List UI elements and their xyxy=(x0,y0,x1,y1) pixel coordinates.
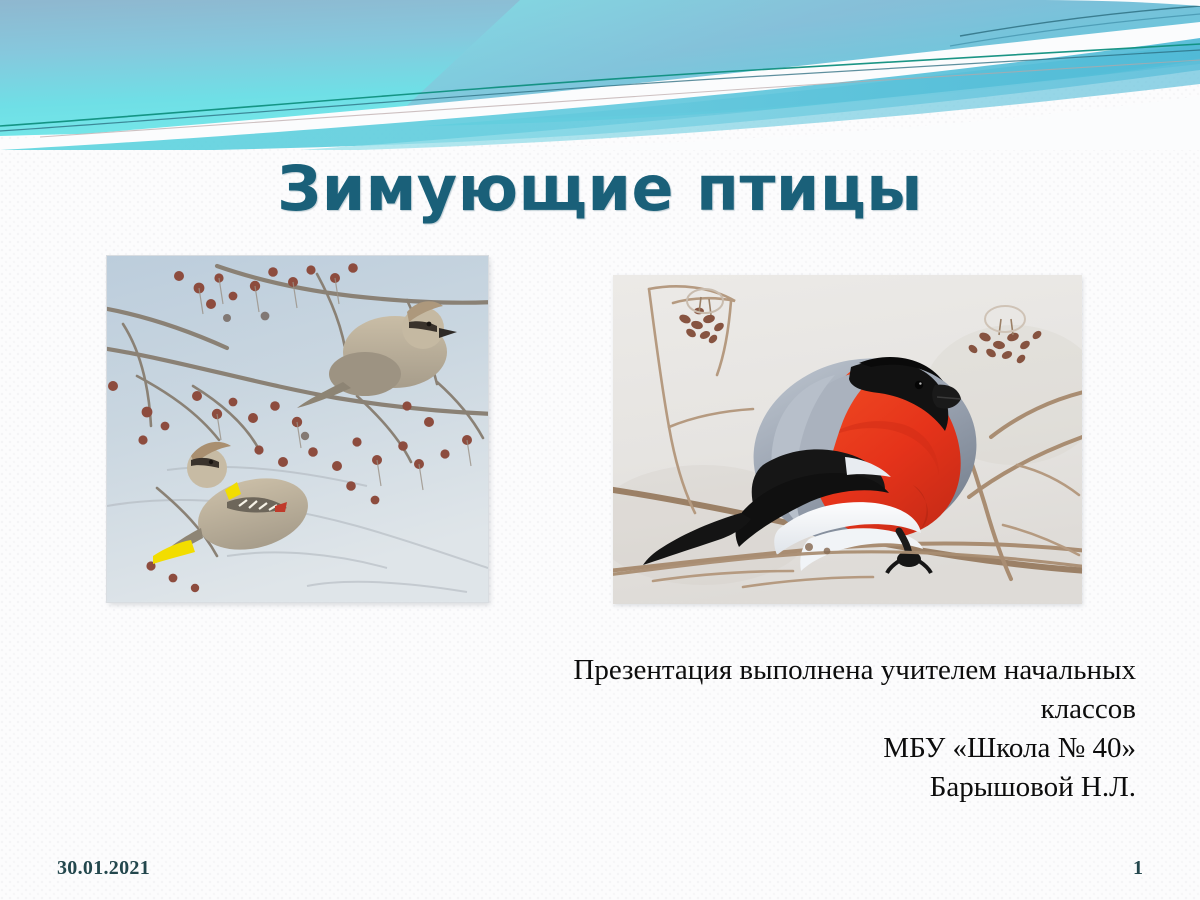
author-credits-block: Презентация выполнена учителем начальных… xyxy=(500,651,1136,807)
photo-bullfinch xyxy=(613,275,1082,604)
author-line-4: Барышовой Н.Л. xyxy=(500,768,1136,807)
header-wave-graphic xyxy=(0,0,1200,150)
waxwings-illustration xyxy=(107,256,488,602)
photo-waxwings xyxy=(107,256,488,602)
author-line-3: МБУ «Школа № 40» xyxy=(500,729,1136,768)
decorative-header-band xyxy=(0,0,1200,150)
bullfinch-illustration xyxy=(613,275,1082,604)
footer-page-number: 1 xyxy=(1133,857,1143,880)
presentation-slide: Зимующие птицы xyxy=(0,0,1200,900)
page-title: Зимующие птицы xyxy=(0,152,1200,225)
author-line-2: классов xyxy=(500,690,1136,729)
author-line-1: Презентация выполнена учителем начальных xyxy=(500,651,1136,690)
footer-date: 30.01.2021 xyxy=(57,857,150,880)
